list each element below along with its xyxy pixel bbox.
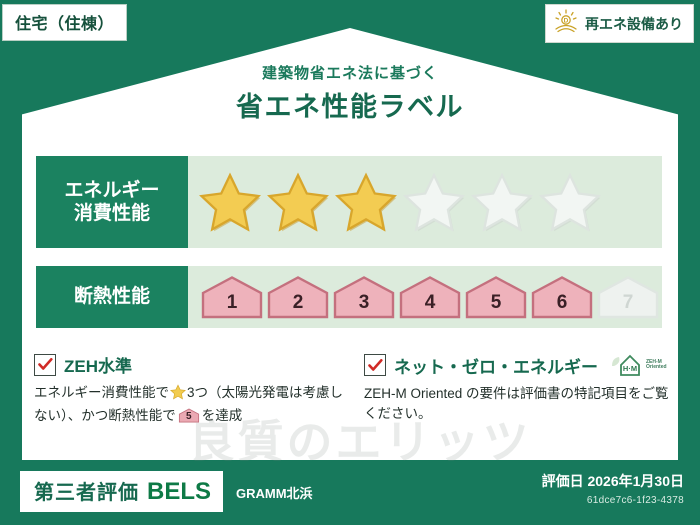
note-zeh-standard: ZEH水準 エネルギー消費性能で3つ（太陽光発電は考慮しない）、かつ断熱性能で5…	[34, 352, 344, 427]
grade-number: 2	[293, 292, 304, 319]
inline-grade-value: 5	[178, 407, 200, 425]
star-icon	[538, 171, 602, 233]
evaluation-date-label: 評価日	[542, 473, 584, 489]
insulation-label-line1: 断熱性能	[74, 285, 150, 308]
energy-performance-label: エネルギー 消費性能	[36, 156, 188, 248]
star-icon	[266, 171, 330, 233]
house-grade-icon: 1	[200, 275, 264, 319]
energy-label-line2: 消費性能	[74, 202, 150, 225]
note-zeh-text-3: を達成	[202, 408, 243, 423]
check-icon	[364, 354, 386, 376]
zeh-m-oriented-logo: H·M ZEH-M Oriented	[610, 352, 667, 378]
star-icon	[170, 388, 186, 403]
svg-text:H·M: H·M	[623, 364, 637, 373]
category-tag: 住宅（住棟）	[2, 4, 127, 41]
house-grade-icon: 4	[398, 275, 462, 319]
note-zeh-text-1: エネルギー消費性能で	[34, 385, 169, 400]
building-name: GRAMM北浜	[236, 483, 313, 502]
house-grade-icon: 7	[596, 275, 660, 319]
note-nze-header: ネット・ゼロ・エネルギー H·M ZEH-M Oriented	[364, 352, 674, 378]
note-net-zero-energy: ネット・ゼロ・エネルギー H·M ZEH-M Oriented ZEH-M Or…	[364, 352, 674, 427]
label-title: 省エネ性能ラベル	[0, 85, 700, 124]
footer-bar: 第三者評価 BELS GRAMM北浜 評価日 2026年1月30日 61dce7…	[0, 461, 700, 525]
note-nze-body: ZEH-M Oriented の要件は評価書の特記項目をご覧ください。	[364, 384, 674, 425]
insulation-performance-label: 断熱性能	[36, 266, 188, 328]
note-zeh-title: ZEH水準	[64, 352, 132, 377]
renewable-energy-badge: D 再エネ設備あり	[545, 4, 694, 43]
solar-sun-icon: D	[553, 9, 579, 38]
note-zeh-body: エネルギー消費性能で3つ（太陽光発電は考慮しない）、かつ断熱性能で5を達成	[34, 383, 344, 427]
grade-number: 1	[227, 292, 238, 319]
title-block: 建築物省エネ法に基づく 省エネ性能ラベル	[0, 62, 700, 124]
grade-number: 6	[557, 292, 568, 319]
grade-number: 5	[491, 292, 502, 319]
evaluation-id: 61dce7c6-1f23-4378	[542, 495, 684, 506]
grade-number: 7	[623, 292, 634, 319]
grade-number: 3	[359, 292, 370, 319]
star-icon	[198, 171, 262, 233]
star-icon	[470, 171, 534, 233]
energy-star-rating	[188, 156, 662, 248]
evaluation-date-value: 2026年1月30日	[587, 473, 684, 489]
house-grade-icon: 5	[178, 407, 200, 424]
zeh-m-caption-line2: Oriented	[646, 364, 667, 370]
evaluation-date: 評価日 2026年1月30日	[542, 471, 684, 491]
svg-text:D: D	[564, 18, 569, 25]
check-icon	[34, 354, 56, 376]
house-grade-icon: 6	[530, 275, 594, 319]
renewable-badge-label: 再エネ設備あり	[585, 14, 683, 34]
star-icon	[334, 171, 398, 233]
energy-performance-label: 良質のエリッツ 住宅（住棟） D 再エネ設備あり	[0, 0, 700, 525]
house-grade-icon: 3	[332, 275, 396, 319]
energy-performance-row: エネルギー 消費性能	[36, 156, 662, 248]
house-grade-icon: 5	[464, 275, 528, 319]
star-icon	[402, 171, 466, 233]
evaluation-info: 評価日 2026年1月30日 61dce7c6-1f23-4378	[542, 471, 684, 506]
zeh-m-caption: ZEH-M Oriented	[646, 360, 667, 371]
bels-en-label: BELS	[147, 478, 211, 506]
grade-number: 4	[425, 292, 436, 319]
note-nze-title: ネット・ゼロ・エネルギー	[394, 353, 598, 378]
note-zeh-header: ZEH水準	[34, 352, 344, 377]
category-tag-label: 住宅（住棟）	[15, 16, 114, 33]
energy-label-line1: エネルギー	[64, 179, 159, 202]
notes-section: ZEH水準 エネルギー消費性能で3つ（太陽光発電は考慮しない）、かつ断熱性能で5…	[34, 352, 674, 427]
label-subtitle: 建築物省エネ法に基づく	[0, 62, 700, 83]
insulation-grade-scale: 1234567	[188, 266, 662, 328]
bels-jp-label: 第三者評価	[34, 476, 139, 505]
bels-certification-box: 第三者評価 BELS	[20, 471, 223, 512]
house-grade-icon: 2	[266, 275, 330, 319]
insulation-performance-row: 断熱性能 1234567	[36, 266, 662, 328]
